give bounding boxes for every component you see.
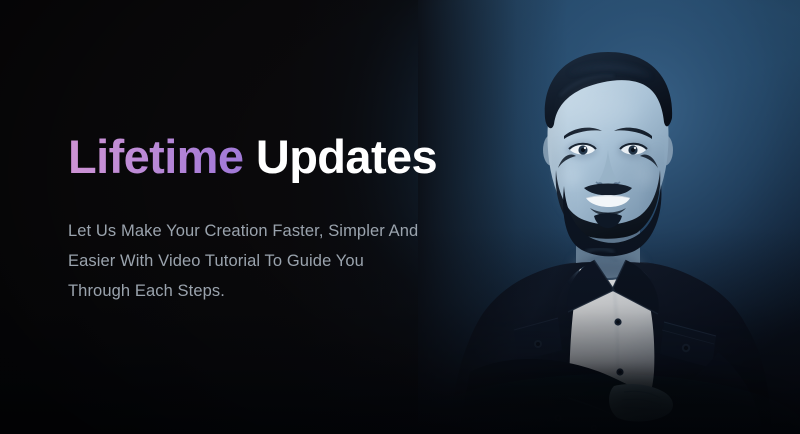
subcopy-line-3: Through Each Steps. (68, 276, 460, 306)
subcopy-line-2: Easier With Video Tutorial To Guide You (68, 246, 460, 276)
headline-plain-word: Updates (256, 130, 437, 183)
hero-subcopy: Let Us Make Your Creation Faster, Simple… (68, 186, 460, 306)
hero-banner: Lifetime Updates Let Us Make Your Creati… (0, 0, 800, 434)
subcopy-line-1: Let Us Make Your Creation Faster, Simple… (68, 216, 460, 246)
hero-copy-block: Lifetime Updates Let Us Make Your Creati… (68, 128, 488, 306)
page-title: Lifetime Updates (68, 128, 488, 186)
headline-accent-word: Lifetime (68, 130, 256, 183)
